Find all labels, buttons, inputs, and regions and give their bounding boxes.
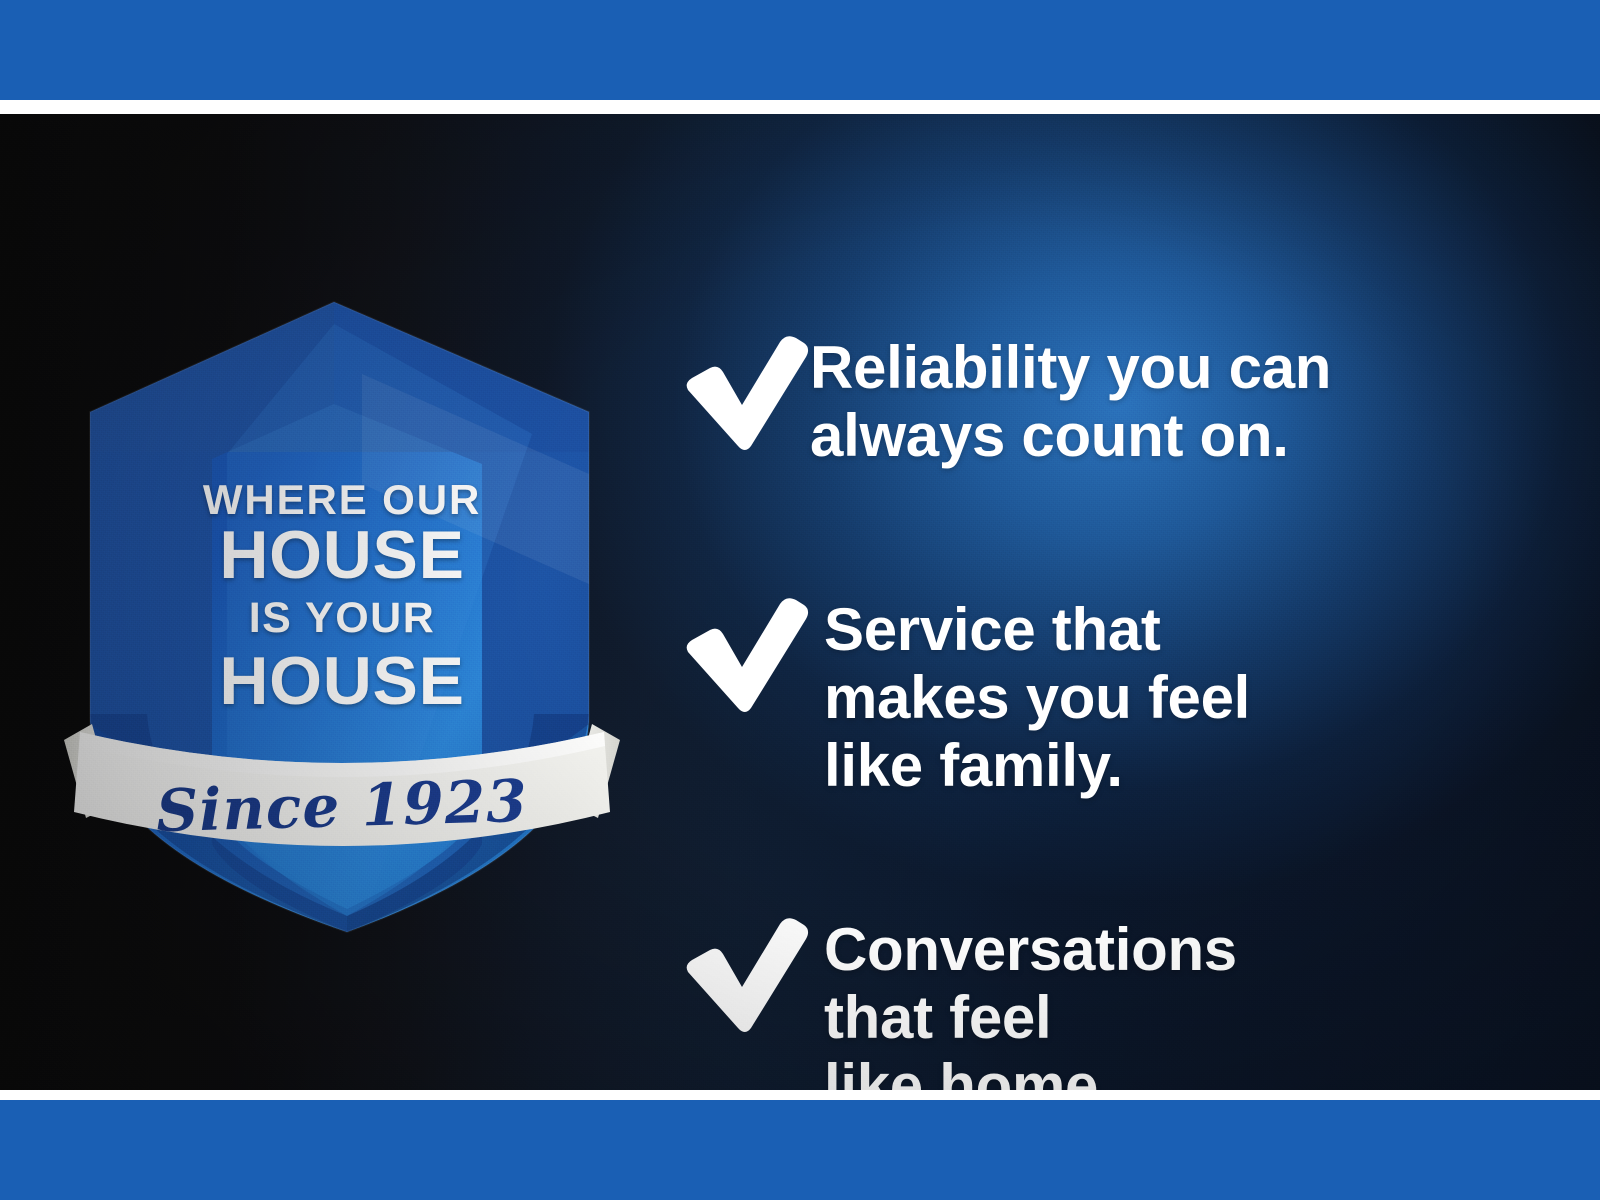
- checklist-item-text: Service that makes you feel like family.: [810, 590, 1250, 799]
- badge-line-4: HOUSE: [62, 642, 622, 720]
- checklist-item: Conversations that feel like home.: [670, 910, 1237, 1090]
- checklist-item-text: Conversations that feel like home.: [810, 910, 1237, 1090]
- checklist-item-text: Reliability you can always count on.: [810, 328, 1331, 470]
- bottom-brand-bar: [0, 1100, 1600, 1200]
- badge-line-2: HOUSE: [62, 516, 622, 594]
- checkmark-icon: [670, 328, 810, 452]
- badge-line-3: IS YOUR: [62, 594, 622, 643]
- benefits-checklist: Reliability you can always count on. Ser…: [670, 228, 1550, 1090]
- checklist-item: Service that makes you feel like family.: [670, 590, 1250, 799]
- checkmark-icon: [670, 910, 810, 1034]
- checkmark-icon: [670, 590, 810, 714]
- top-brand-bar: [0, 0, 1600, 100]
- checklist-item: Reliability you can always count on.: [670, 328, 1331, 470]
- promo-graphic: WHERE OUR HOUSE IS YOUR HOUSE Since 1923…: [0, 0, 1600, 1200]
- shield-badge: WHERE OUR HOUSE IS YOUR HOUSE Since 1923: [62, 284, 622, 934]
- main-panel: WHERE OUR HOUSE IS YOUR HOUSE Since 1923…: [0, 114, 1600, 1090]
